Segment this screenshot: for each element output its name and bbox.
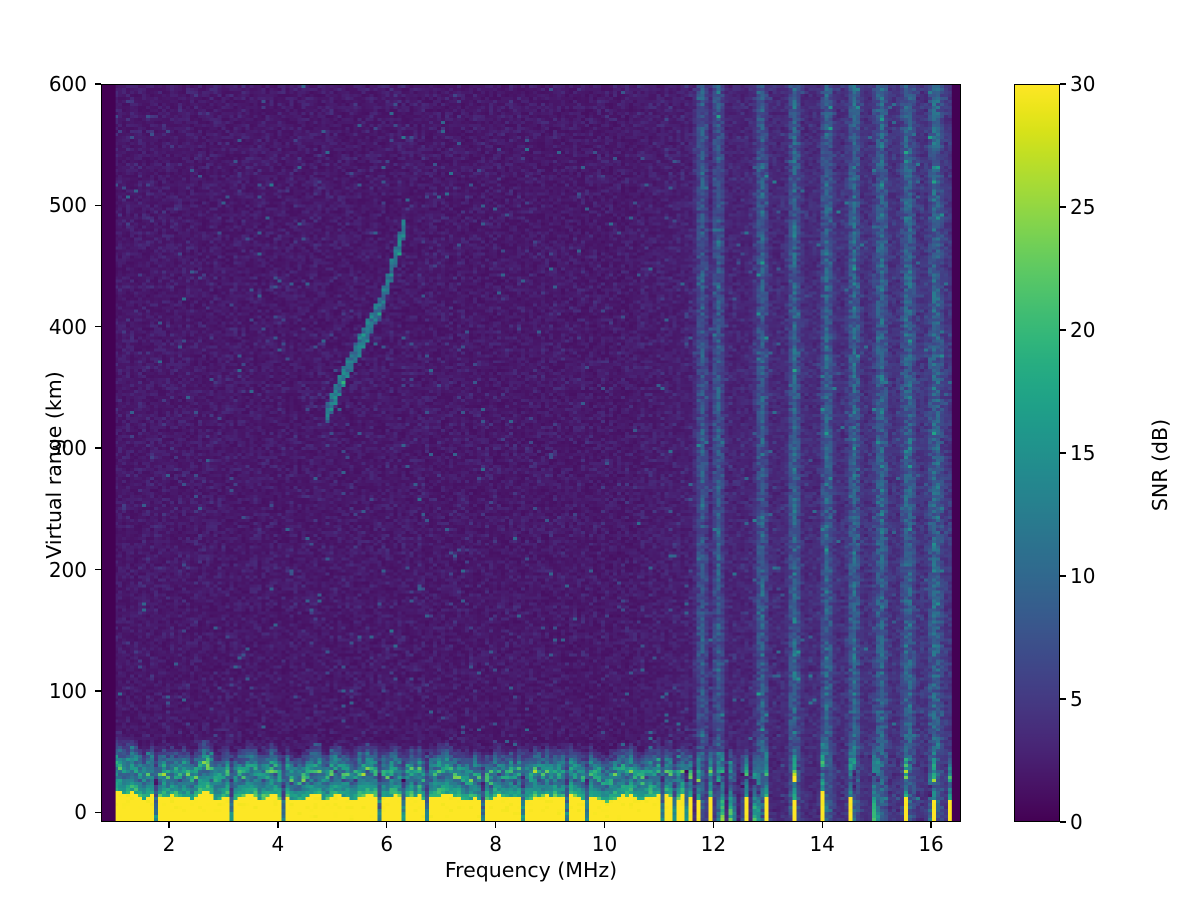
x-tick-label-14: 14 bbox=[792, 832, 852, 856]
x-tick-label-8: 8 bbox=[466, 832, 526, 856]
colorbar-tick-label-15: 15 bbox=[1070, 443, 1095, 463]
colorbar-tick-label-5: 5 bbox=[1070, 689, 1083, 709]
x-tick-14 bbox=[822, 822, 823, 828]
colorbar-gradient bbox=[1015, 85, 1059, 821]
colorbar-tick-label-25: 25 bbox=[1070, 197, 1095, 217]
colorbar-tick-10 bbox=[1060, 575, 1066, 576]
x-axis-label: Frequency (MHz) bbox=[101, 858, 961, 882]
x-tick-6 bbox=[386, 822, 387, 828]
y-tick-300 bbox=[95, 447, 101, 448]
x-tick-label-12: 12 bbox=[683, 832, 743, 856]
colorbar-tick-label-10: 10 bbox=[1070, 566, 1095, 586]
x-tick-label-10: 10 bbox=[574, 832, 634, 856]
ionogram-figure: IRF Kiruna Ionosonde KI167 2025-09-29 07… bbox=[0, 0, 1200, 900]
x-tick-8 bbox=[495, 822, 496, 828]
y-tick-label-0: 0 bbox=[7, 802, 87, 822]
colorbar-tick-15 bbox=[1060, 452, 1066, 453]
colorbar-tick-30 bbox=[1060, 83, 1066, 84]
x-tick-label-4: 4 bbox=[248, 832, 308, 856]
colorbar-label: SNR (dB) bbox=[1148, 305, 1172, 625]
colorbar-tick-label-30: 30 bbox=[1070, 74, 1095, 94]
x-tick-label-6: 6 bbox=[357, 832, 417, 856]
y-tick-100 bbox=[95, 690, 101, 691]
x-tick-10 bbox=[604, 822, 605, 828]
colorbar-tick-0 bbox=[1060, 821, 1066, 822]
y-tick-500 bbox=[95, 205, 101, 206]
y-tick-label-500: 500 bbox=[7, 195, 87, 215]
y-tick-600 bbox=[95, 83, 101, 84]
y-axis-label: Virtual range (km) bbox=[42, 305, 66, 625]
x-tick-label-2: 2 bbox=[139, 832, 199, 856]
x-tick-16 bbox=[930, 822, 931, 828]
colorbar-tick-label-0: 0 bbox=[1070, 812, 1083, 832]
colorbar-tick-5 bbox=[1060, 698, 1066, 699]
ionogram-axes bbox=[101, 84, 961, 822]
y-tick-label-100: 100 bbox=[7, 681, 87, 701]
colorbar-axes bbox=[1014, 84, 1060, 822]
y-tick-400 bbox=[95, 326, 101, 327]
y-tick-label-600: 600 bbox=[7, 74, 87, 94]
x-tick-2 bbox=[168, 822, 169, 828]
colorbar-tick-20 bbox=[1060, 329, 1066, 330]
ionogram-heatmap bbox=[102, 85, 960, 821]
x-tick-4 bbox=[277, 822, 278, 828]
colorbar-tick-label-20: 20 bbox=[1070, 320, 1095, 340]
colorbar-tick-25 bbox=[1060, 206, 1066, 207]
x-tick-12 bbox=[713, 822, 714, 828]
y-tick-0 bbox=[95, 812, 101, 813]
y-tick-200 bbox=[95, 569, 101, 570]
x-tick-label-16: 16 bbox=[901, 832, 961, 856]
